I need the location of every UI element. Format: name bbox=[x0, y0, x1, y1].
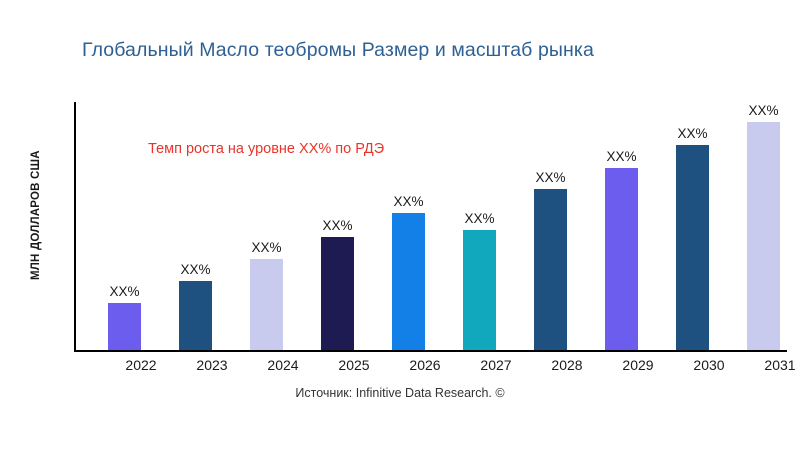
chart-title: Глобальный Масло теобромы Размер и масшт… bbox=[82, 39, 742, 62]
bar-2025[interactable] bbox=[321, 237, 354, 350]
bar-value-label-2023: XX% bbox=[180, 262, 210, 277]
bar-2031[interactable] bbox=[747, 122, 780, 350]
x-axis-line bbox=[74, 350, 787, 352]
x-tick-2029: 2029 bbox=[608, 357, 668, 373]
bar-2028[interactable] bbox=[534, 189, 567, 350]
x-axis-tick-labels: 2022202320242025202620272028202920302031 bbox=[74, 357, 787, 377]
bar-value-label-2026: XX% bbox=[393, 194, 423, 209]
bar-value-label-2027: XX% bbox=[464, 211, 494, 226]
bar-value-label-2029: XX% bbox=[606, 149, 636, 164]
x-tick-2028: 2028 bbox=[537, 357, 597, 373]
x-tick-2026: 2026 bbox=[395, 357, 455, 373]
bar-2022[interactable] bbox=[108, 303, 141, 350]
x-tick-2030: 2030 bbox=[679, 357, 739, 373]
x-tick-2025: 2025 bbox=[324, 357, 384, 373]
x-tick-2022: 2022 bbox=[111, 357, 171, 373]
plot-area: XX%XX%XX%XX%XX%XX%XX%XX%XX%XX% bbox=[74, 102, 787, 350]
bar-2027[interactable] bbox=[463, 230, 496, 350]
bar-value-label-2030: XX% bbox=[677, 126, 707, 141]
x-tick-2023: 2023 bbox=[182, 357, 242, 373]
chart-container: Глобальный Масло теобромы Размер и масшт… bbox=[0, 0, 800, 450]
x-tick-2031: 2031 bbox=[750, 357, 800, 373]
x-tick-2027: 2027 bbox=[466, 357, 526, 373]
bar-2026[interactable] bbox=[392, 213, 425, 350]
bar-2029[interactable] bbox=[605, 168, 638, 350]
y-axis-title: МЛН ДОЛЛАРОВ США bbox=[30, 20, 48, 280]
bar-value-label-2028: XX% bbox=[535, 170, 565, 185]
bar-value-label-2025: XX% bbox=[322, 218, 352, 233]
bar-value-label-2024: XX% bbox=[251, 240, 281, 255]
bar-2023[interactable] bbox=[179, 281, 212, 350]
bar-2030[interactable] bbox=[676, 145, 709, 350]
source-note: Источник: Infinitive Data Research. © bbox=[0, 386, 800, 400]
bar-2024[interactable] bbox=[250, 259, 283, 350]
bar-value-label-2031: XX% bbox=[748, 103, 778, 118]
growth-rate-annotation: Темп роста на уровне XX% по РДЭ bbox=[148, 141, 384, 157]
x-tick-2024: 2024 bbox=[253, 357, 313, 373]
bar-value-label-2022: XX% bbox=[109, 284, 139, 299]
